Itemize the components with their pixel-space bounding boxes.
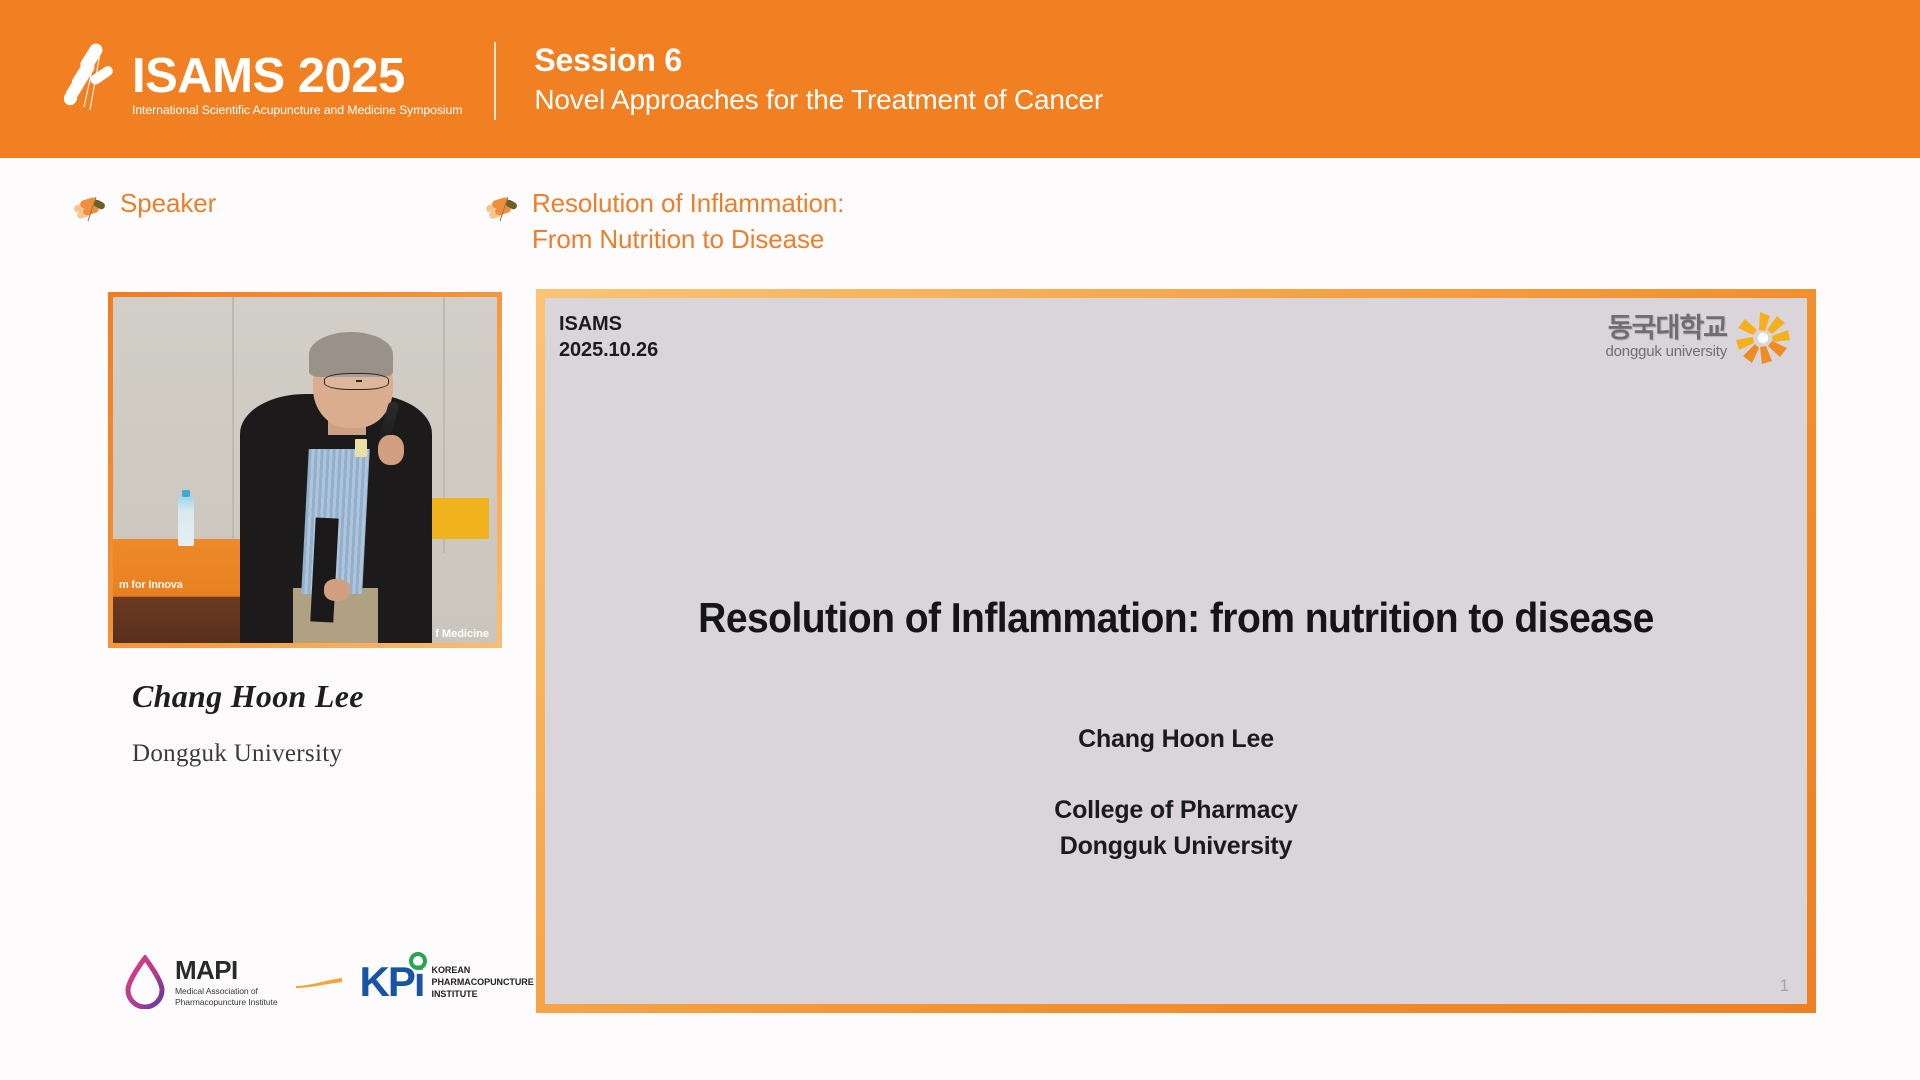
presentation-page: ISAMS 2025 International Scientific Acup… — [0, 0, 1920, 1080]
brand-subtitle: International Scientific Acupuncture and… — [132, 103, 462, 117]
session-block: Session 6 Novel Approaches for the Treat… — [534, 39, 1103, 118]
topic-label-group: Resolution of Inflammation: From Nutriti… — [484, 186, 844, 258]
session-description: Novel Approaches for the Treatment of Ca… — [534, 82, 1103, 119]
page-header: ISAMS 2025 International Scientific Acup… — [0, 0, 1920, 158]
topic-label: Resolution of Inflammation: From Nutriti… — [532, 186, 844, 258]
slide-title: Resolution of Inflammation: from nutriti… — [589, 594, 1763, 642]
photo-podium-text: m for Innova — [119, 579, 183, 591]
dongguk-starburst-icon — [1731, 308, 1795, 368]
swoosh-divider-icon — [296, 976, 342, 988]
isams-brand: ISAMS 2025 International Scientific Acup… — [64, 41, 462, 117]
speaker-photo-frame: m for Innova f Medicine — [108, 292, 502, 648]
bee-needle-icon — [64, 41, 122, 111]
footer-logos: MAPI Medical Association of Pharmacopunc… — [124, 955, 534, 1009]
session-name: Session 6 — [534, 39, 1103, 81]
photo-banner-text: f Medicine — [435, 628, 489, 640]
mapi-name: MAPI — [175, 957, 278, 983]
brand-title: ISAMS 2025 — [132, 52, 462, 100]
slide-page-number: 1 — [1780, 976, 1789, 996]
slide-author: Chang Hoon Lee — [545, 725, 1807, 754]
kpi-subtitle: KOREAN PHARMACOPUNCTURE INSTITUTE — [432, 964, 534, 1000]
kpi-logo: KPi KOREAN PHARMACOPUNCTURE INSTITUTE — [360, 961, 534, 1003]
kpi-mark: KPi — [360, 961, 424, 1003]
mapi-logo: MAPI Medical Association of Pharmacopunc… — [124, 955, 278, 1009]
bee-icon — [72, 192, 106, 222]
slide-affiliation: College of Pharmacy Dongguk University — [545, 793, 1807, 864]
speaker-label-group: Speaker — [72, 186, 216, 222]
header-divider — [494, 42, 496, 120]
section-labels: Speaker Resolution of Inflammation: From… — [0, 186, 1920, 266]
mapi-subtitle: Medical Association of Pharmacopuncture … — [175, 986, 278, 1007]
speaker-name: Chang Hoon Lee — [132, 678, 492, 715]
slide-meta: ISAMS 2025.10.26 — [559, 312, 658, 363]
dongguk-english-name: dongguk university — [1606, 344, 1727, 361]
slide-frame[interactable]: ISAMS 2025.10.26 동국대학교 dongguk universit… — [536, 289, 1816, 1013]
slide-canvas[interactable]: ISAMS 2025.10.26 동국대학교 dongguk universit… — [545, 298, 1807, 1004]
droplet-icon — [124, 955, 166, 1009]
speaker-photo: m for Innova f Medicine — [113, 297, 497, 643]
speaker-label: Speaker — [120, 186, 216, 222]
speaker-organization: Dongguk University — [132, 740, 512, 768]
bee-icon — [484, 192, 518, 222]
dongguk-university-logo: 동국대학교 dongguk university — [1606, 308, 1795, 368]
dongguk-korean-name: 동국대학교 — [1608, 315, 1727, 342]
